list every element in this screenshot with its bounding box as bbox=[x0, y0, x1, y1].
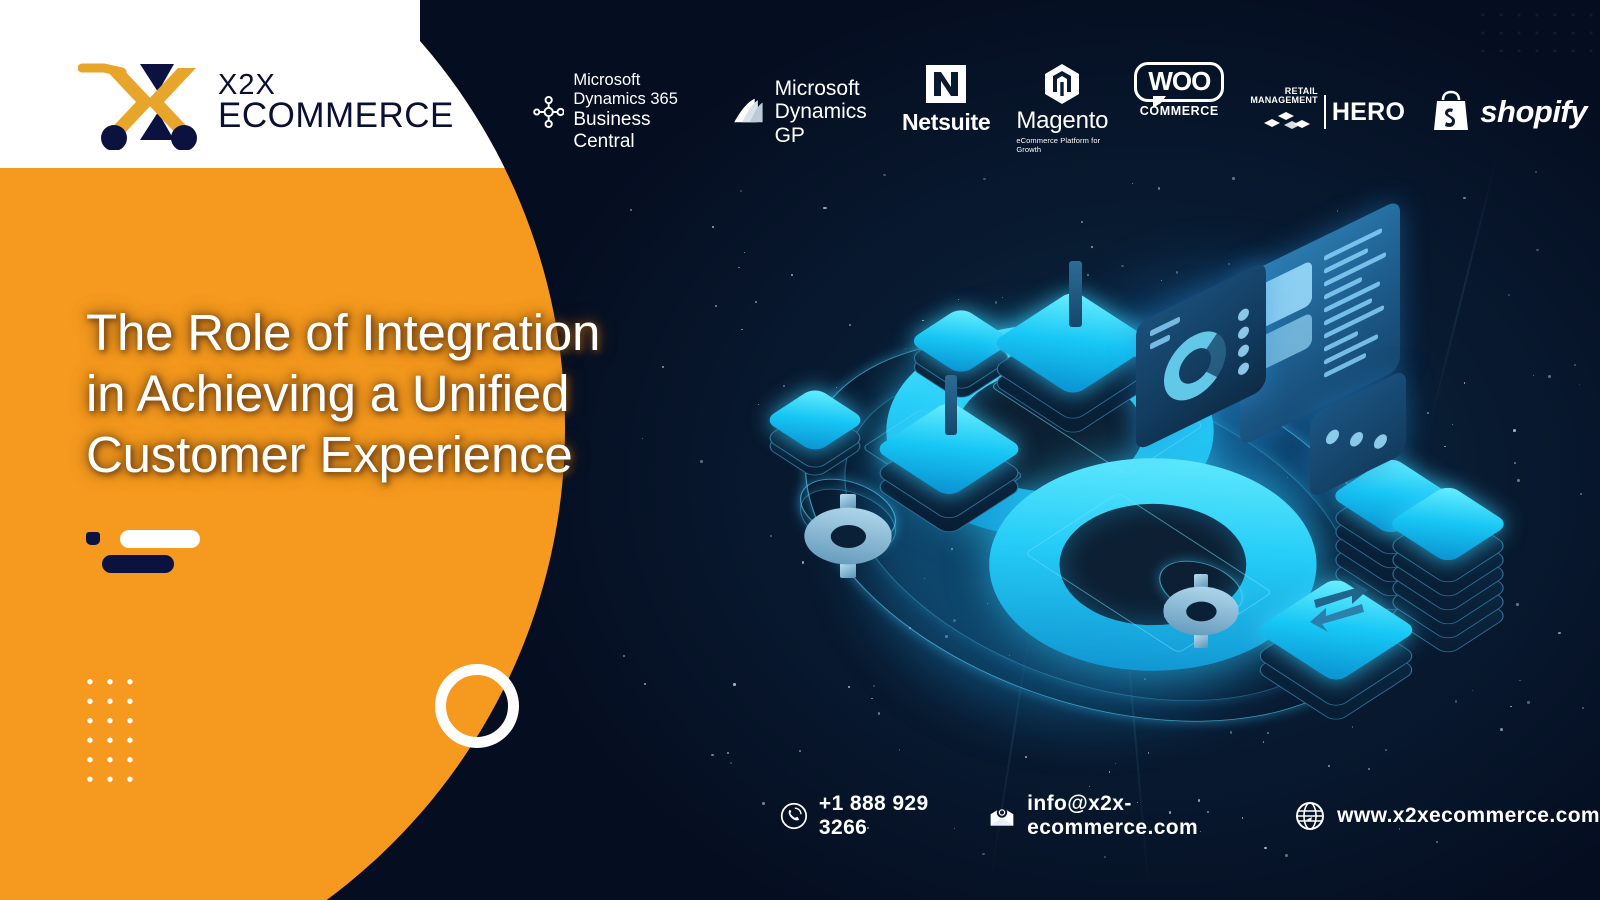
partner-logo-business-central: Microsoft Dynamics 365 Business Central bbox=[520, 62, 718, 162]
magento-hex-icon bbox=[1041, 62, 1083, 106]
phone-text: +1 888 929 3266 bbox=[819, 792, 962, 840]
star bbox=[823, 207, 825, 209]
star bbox=[762, 802, 765, 805]
x2x-cart-logo-icon bbox=[78, 58, 210, 150]
contact-website[interactable]: www.x2xecommerce.com bbox=[1294, 800, 1600, 832]
donut-chart bbox=[1164, 320, 1226, 412]
partner-label: Microsoft bbox=[775, 77, 876, 101]
server-node-pin bbox=[905, 405, 993, 493]
star bbox=[883, 174, 886, 177]
server-node-pin bbox=[1025, 295, 1121, 391]
mark-bar-dark bbox=[102, 555, 174, 573]
partner-logo-shopify: shopify bbox=[1418, 62, 1600, 162]
partner-label: HERO bbox=[1332, 98, 1405, 127]
logo-divider bbox=[1324, 95, 1326, 129]
star bbox=[1104, 856, 1106, 858]
headline-line-3: Customer Experience bbox=[86, 424, 746, 485]
database-node bbox=[785, 390, 845, 450]
page-title: The Role of Integration in Achieving a U… bbox=[86, 302, 746, 486]
marketing-banner: X2X ECOMMERCE Microsoft Dynamics 365 Bus… bbox=[0, 0, 1600, 900]
star bbox=[1582, 707, 1584, 709]
star bbox=[1535, 171, 1537, 173]
star bbox=[630, 209, 632, 211]
partner-label: Magento bbox=[1016, 107, 1108, 135]
logo-line-1: X2X bbox=[218, 71, 454, 99]
pin-stem bbox=[1069, 261, 1082, 327]
partner-logo-strip: Microsoft Dynamics 365 Business Central … bbox=[520, 62, 1600, 162]
star bbox=[1580, 493, 1582, 495]
star bbox=[1368, 768, 1370, 770]
email-text: info@x2x-ecommerce.com bbox=[1027, 792, 1268, 840]
partner-label: Netsuite bbox=[902, 109, 990, 136]
star bbox=[623, 655, 625, 657]
logo-wordmark: X2X ECOMMERCE bbox=[218, 71, 454, 134]
shopify-bag-icon bbox=[1431, 90, 1471, 134]
partner-label: shopify bbox=[1480, 94, 1587, 130]
star bbox=[1328, 765, 1330, 767]
headline-line-1: The Role of Integration bbox=[86, 302, 746, 363]
partner-label: WOO bbox=[1134, 62, 1224, 102]
star bbox=[1025, 756, 1027, 758]
star bbox=[1463, 197, 1466, 200]
partner-logo-magento: Magento eCommerce Platform for Growth bbox=[1003, 62, 1121, 162]
star bbox=[1232, 177, 1235, 180]
star bbox=[733, 683, 736, 686]
partner-logo-netsuite: Netsuite bbox=[889, 62, 1003, 162]
x2x-logo[interactable]: X2X ECOMMERCE bbox=[78, 58, 408, 150]
website-text: www.x2xecommerce.com bbox=[1337, 804, 1600, 828]
star bbox=[1285, 854, 1288, 857]
partner-tagline: eCommerce Platform for Growth bbox=[1016, 136, 1108, 154]
phone-icon bbox=[780, 800, 808, 832]
headline-line-2: in Achieving a Unified bbox=[86, 363, 746, 424]
star bbox=[1158, 187, 1160, 189]
corner-dot-pattern bbox=[1474, 6, 1594, 52]
partner-logo-retail-management-hero: RETAIL MANAGEMENT HERO bbox=[1237, 62, 1418, 162]
dynamics-365-nodes-icon bbox=[533, 91, 564, 133]
netsuite-n-icon bbox=[922, 62, 970, 106]
star bbox=[1148, 752, 1149, 753]
star bbox=[1115, 763, 1116, 764]
dot-grid-decoration bbox=[80, 672, 144, 788]
gear-icon bbox=[812, 500, 884, 572]
partner-logo-dynamics-gp: Microsoft Dynamics GP bbox=[718, 62, 889, 162]
arrows-glyph bbox=[1294, 560, 1390, 656]
partner-label: MANAGEMENT bbox=[1250, 96, 1318, 105]
star bbox=[730, 762, 732, 764]
star bbox=[983, 178, 985, 180]
mark-dot bbox=[86, 532, 100, 545]
rmh-arrows-icon bbox=[1260, 107, 1318, 133]
star bbox=[1574, 364, 1576, 366]
star bbox=[712, 226, 715, 229]
database-node bbox=[930, 310, 992, 372]
star bbox=[727, 752, 729, 754]
dynamics-gp-wave-icon bbox=[731, 91, 766, 133]
star bbox=[740, 190, 742, 192]
envelope-icon bbox=[988, 800, 1016, 832]
partner-label: Dynamics GP bbox=[775, 100, 876, 147]
partner-sublabel: COMMERCE bbox=[1140, 104, 1219, 118]
partner-label: Business Central bbox=[573, 109, 704, 153]
globe-icon bbox=[1294, 800, 1326, 832]
star bbox=[644, 683, 646, 685]
star bbox=[1132, 183, 1133, 184]
integration-illustration bbox=[740, 210, 1560, 750]
mark-bar-white bbox=[120, 530, 200, 548]
star bbox=[1436, 841, 1438, 843]
star bbox=[799, 750, 801, 752]
star bbox=[1579, 384, 1580, 385]
logo-line-2: ECOMMERCE bbox=[218, 99, 454, 133]
pin-stem bbox=[945, 375, 957, 435]
partner-label: Microsoft Dynamics 365 bbox=[573, 71, 704, 109]
data-transfer-arrows bbox=[1288, 582, 1384, 678]
star bbox=[1264, 847, 1267, 850]
gear-icon bbox=[1170, 580, 1232, 642]
star bbox=[1089, 786, 1090, 787]
partner-logo-woocommerce: WOO COMMERCE bbox=[1121, 62, 1237, 162]
contact-phone[interactable]: +1 888 929 3266 bbox=[780, 792, 962, 840]
star bbox=[1109, 771, 1111, 773]
contact-email[interactable]: info@x2x-ecommerce.com bbox=[988, 792, 1268, 840]
ring-decoration bbox=[435, 664, 519, 748]
contact-bar: +1 888 929 3266 info@x2x-ecommerce.com w… bbox=[780, 792, 1600, 840]
server-stack bbox=[1412, 488, 1484, 560]
decorative-mark bbox=[86, 528, 182, 572]
star bbox=[982, 853, 984, 855]
star bbox=[711, 754, 714, 757]
